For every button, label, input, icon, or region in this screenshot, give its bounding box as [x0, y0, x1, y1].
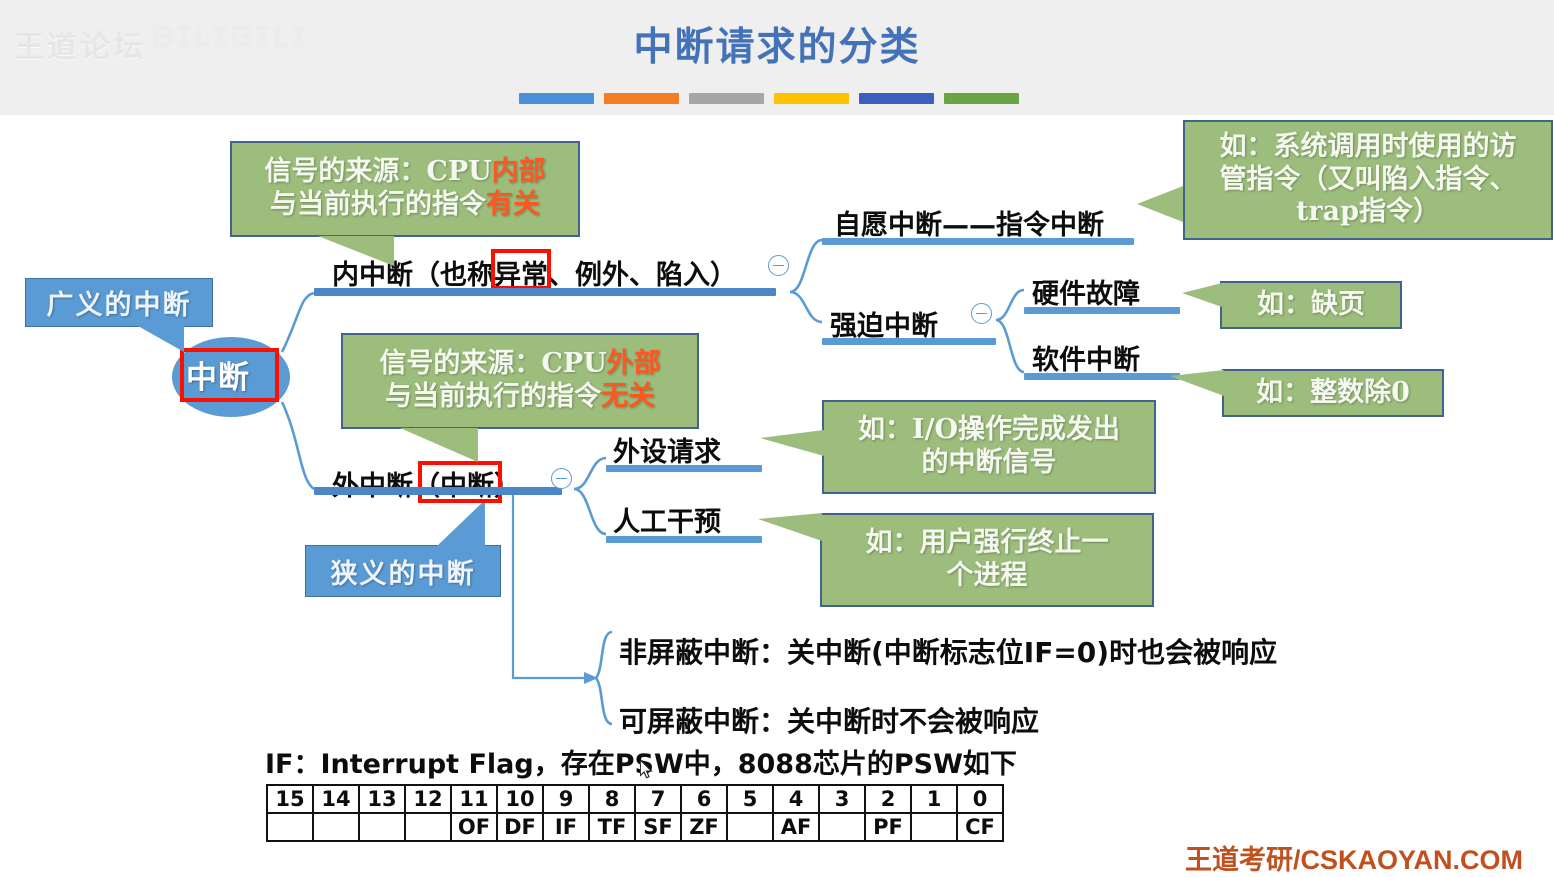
example-divide-by-zero-tail — [1170, 370, 1224, 396]
branch-voluntary-interrupt[interactable]: 自愿中断——指令中断 — [834, 203, 1104, 242]
psw-bit-table: 1514131211109876543210 OFDFIFTFSFZFAFPFC… — [266, 784, 1004, 842]
psw-bit-index: 6 — [681, 785, 727, 813]
note-external-source: 信号的来源：CPU外部 与当前执行的指令无关 — [341, 333, 699, 429]
psw-bit-index: 3 — [819, 785, 865, 813]
example-kill-tail — [758, 513, 822, 541]
psw-flag-cell: OF — [451, 813, 497, 841]
bar-green — [944, 93, 1019, 104]
bar-blue — [519, 93, 594, 104]
note-external-tail — [400, 428, 478, 462]
psw-bit-index: 2 — [865, 785, 911, 813]
psw-bit-index: 14 — [313, 785, 359, 813]
mouse-cursor — [640, 760, 654, 780]
psw-bit-index: 15 — [267, 785, 313, 813]
example-io-line1: 如：I/O操作完成发出 — [858, 414, 1120, 447]
text-nonmaskable-interrupt: 非屏蔽中断：关中断(中断标志位IF=0)时也会被响应 — [619, 631, 1277, 671]
collapse-toggle-external[interactable] — [551, 468, 572, 489]
psw-bit-index: 9 — [543, 785, 589, 813]
branch-forced-underline — [822, 338, 996, 345]
note-internal-line2: 与当前执行的指令有关 — [270, 189, 540, 222]
psw-bit-index: 10 — [497, 785, 543, 813]
example-kill-line1: 如：用户强行终止一 — [866, 527, 1109, 560]
psw-flag-cell — [405, 813, 451, 841]
page-title: 中断请求的分类 — [0, 16, 1554, 72]
psw-bit-index: 5 — [727, 785, 773, 813]
collapse-toggle-forced[interactable] — [971, 303, 992, 324]
slide-header: 王道论坛 ʙɪʟɪʙɪʟɪ 中断请求的分类 — [0, 0, 1554, 115]
slide-root: 王道论坛 ʙɪʟɪʙɪʟɪ 中断请求的分类 — [0, 0, 1554, 850]
branch-software-interrupt-underline — [1024, 373, 1180, 380]
psw-flag-cell — [267, 813, 313, 841]
psw-bit-index: 7 — [635, 785, 681, 813]
psw-flag-cell — [727, 813, 773, 841]
branch-internal-underline — [314, 288, 776, 296]
branch-manual-intervention-underline — [606, 536, 762, 543]
bar-navy — [859, 93, 934, 104]
example-trap-tail — [1137, 186, 1183, 222]
example-io-complete: 如：I/O操作完成发出 的中断信号 — [822, 400, 1156, 494]
bar-gray — [689, 93, 764, 104]
example-kill-process: 如：用户强行终止一 个进程 — [820, 513, 1154, 607]
branch-device-request[interactable]: 外设请求 — [613, 430, 721, 469]
example-io-tail — [760, 430, 824, 456]
example-page-fault: 如：缺页 — [1220, 281, 1402, 329]
psw-flag-cell: IF — [543, 813, 589, 841]
example-kill-line2: 个进程 — [947, 560, 1028, 593]
psw-bit-index: 0 — [957, 785, 1003, 813]
branch-manual-intervention[interactable]: 人工干预 — [613, 500, 721, 539]
psw-flag-cell: TF — [589, 813, 635, 841]
psw-bit-index: 1 — [911, 785, 957, 813]
example-io-line2: 的中断信号 — [922, 447, 1057, 480]
psw-flag-cell — [313, 813, 359, 841]
example-trap-line2: 管指令（又叫陷入指令、 — [1220, 164, 1517, 197]
psw-flag-cell: SF — [635, 813, 681, 841]
psw-bit-index: 13 — [359, 785, 405, 813]
center-node-highlight-box — [180, 348, 279, 402]
callout-broad-interrupt[interactable]: 广义的中断 — [25, 278, 213, 327]
watermark-bottom: 王道考研/CSKAOYAN.COM — [1185, 838, 1523, 877]
branch-software-interrupt[interactable]: 软件中断 — [1032, 338, 1140, 377]
note-external-line1: 信号的来源：CPU外部 — [379, 348, 660, 381]
psw-flag-cell: CF — [957, 813, 1003, 841]
callout-narrow-tail — [437, 500, 485, 546]
psw-table-row-bits: 1514131211109876543210 — [267, 785, 1003, 813]
title-decor-bars — [519, 93, 1019, 104]
note-external-line2: 与当前执行的指令无关 — [385, 381, 655, 414]
bar-orange — [604, 93, 679, 104]
branch-internal-highlight-box — [491, 249, 551, 290]
psw-table-row-flags: OFDFIFTFSFZFAFPFCF — [267, 813, 1003, 841]
psw-bit-index: 4 — [773, 785, 819, 813]
text-maskable-interrupt: 可屏蔽中断：关中断时不会被响应 — [619, 700, 1039, 740]
psw-flag-cell: ZF — [681, 813, 727, 841]
branch-internal-suffix: 、例外、陷入） — [548, 260, 737, 291]
example-divide-by-zero: 如：整数除0 — [1222, 369, 1444, 417]
branch-external-underline — [314, 487, 562, 495]
bar-yellow — [774, 93, 849, 104]
psw-flag-cell: PF — [865, 813, 911, 841]
branch-external-highlight-box — [418, 461, 502, 503]
note-internal-source: 信号的来源：CPU内部 与当前执行的指令有关 — [230, 141, 580, 237]
branch-hardware-fault-underline — [1024, 307, 1180, 314]
collapse-toggle-internal[interactable] — [768, 255, 789, 276]
psw-flag-cell — [819, 813, 865, 841]
example-page-fault-tail — [1182, 283, 1222, 307]
note-internal-tail — [318, 236, 394, 266]
psw-flag-cell — [359, 813, 405, 841]
note-internal-line1: 信号的来源：CPU内部 — [264, 156, 545, 189]
callout-narrow-interrupt[interactable]: 狭义的中断 — [305, 545, 501, 597]
psw-flag-cell — [911, 813, 957, 841]
psw-bit-index: 12 — [405, 785, 451, 813]
example-trap-instruction: 如：系统调用时使用的访 管指令（又叫陷入指令、 trap指令） — [1183, 120, 1553, 240]
psw-bit-index: 11 — [451, 785, 497, 813]
example-trap-line3: trap指令） — [1296, 196, 1440, 229]
psw-bit-index: 8 — [589, 785, 635, 813]
callout-broad-tail — [138, 326, 184, 352]
example-trap-line1: 如：系统调用时使用的访 — [1220, 131, 1517, 164]
branch-voluntary-underline — [822, 238, 1134, 245]
branch-device-request-underline — [606, 465, 762, 472]
branch-hardware-fault[interactable]: 硬件故障 — [1032, 272, 1140, 311]
psw-flag-cell: DF — [497, 813, 543, 841]
psw-flag-cell: AF — [773, 813, 819, 841]
